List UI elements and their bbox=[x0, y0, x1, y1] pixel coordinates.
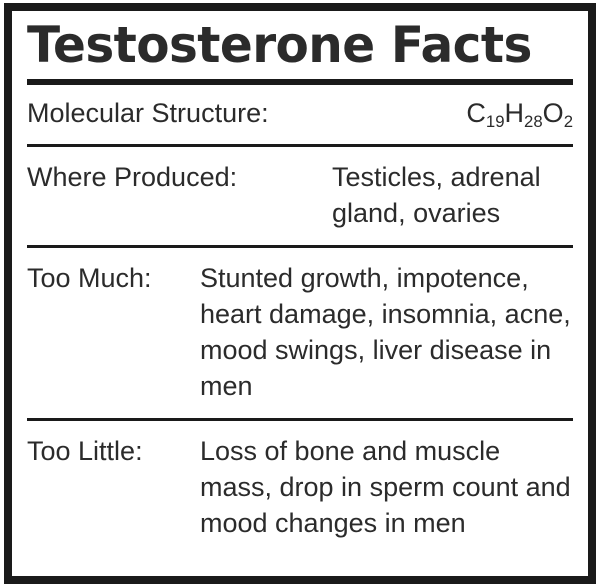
formula-count-c: 19 bbox=[486, 112, 505, 131]
fact-value-too-much: Stunted growth, impotence, heart damage,… bbox=[200, 260, 573, 404]
table-row: Where Produced: Testicles, adrenal gland… bbox=[27, 147, 573, 245]
fact-label-too-much: Too Much: bbox=[27, 260, 201, 296]
formula-element-o: O bbox=[543, 98, 564, 128]
table-row: Molecular Structure: C19H28O2 bbox=[27, 85, 573, 144]
table-row: Too Little: Loss of bone and muscle mass… bbox=[27, 421, 573, 551]
fact-value-molecular-formula: C19H28O2 bbox=[269, 95, 573, 135]
facts-list: Molecular Structure: C19H28O2 Where Prod… bbox=[19, 85, 581, 576]
table-row: Too Much: Stunted growth, impotence, hea… bbox=[27, 248, 573, 418]
testosterone-facts-card: Testosterone Facts Molecular Structure: … bbox=[0, 0, 600, 588]
fact-label-where-produced: Where Produced: bbox=[27, 159, 201, 195]
fact-value-where-produced: Testicles, adrenal gland, ovaries bbox=[201, 159, 573, 231]
formula-element-h: H bbox=[505, 98, 525, 128]
fact-label-molecular-structure: Molecular Structure: bbox=[27, 95, 269, 131]
formula-count-o: 2 bbox=[564, 112, 573, 131]
page-title: Testosterone Facts bbox=[27, 16, 557, 74]
card-frame: Testosterone Facts Molecular Structure: … bbox=[4, 3, 596, 584]
fact-label-too-little: Too Little: bbox=[27, 433, 201, 469]
formula-element-c: C bbox=[466, 98, 486, 128]
title-block: Testosterone Facts bbox=[19, 11, 581, 85]
formula-count-h: 28 bbox=[524, 112, 543, 131]
fact-value-too-little: Loss of bone and muscle mass, drop in sp… bbox=[200, 433, 573, 541]
